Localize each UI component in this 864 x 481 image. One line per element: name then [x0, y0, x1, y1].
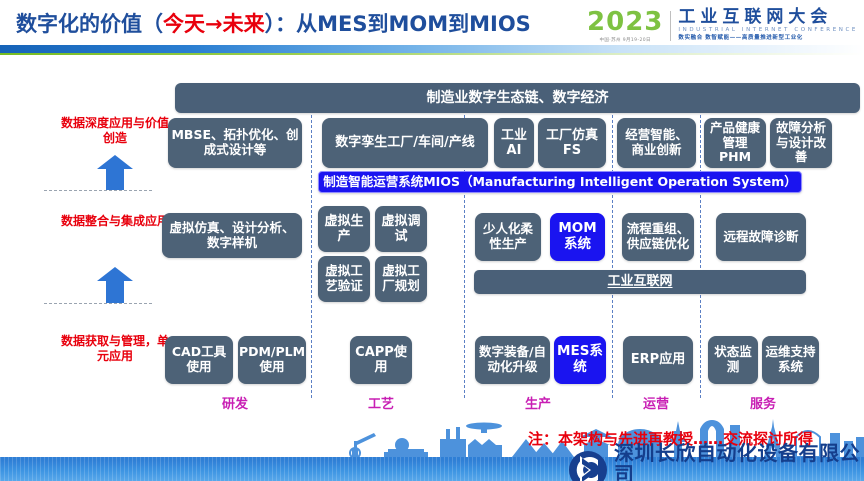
- box-process-reengineering[interactable]: 流程重组、供应链优化: [622, 213, 694, 261]
- box-virtual-simulation-design[interactable]: 虚拟仿真、设计分析、数字样机: [162, 213, 302, 258]
- category-label-rd: 研发: [190, 393, 280, 412]
- category-label-production: 生产: [493, 393, 583, 412]
- axis-label-tier-2: 数据整合与集成应用: [56, 214, 174, 229]
- logo-year-subtitle: 中国·苏州 9月19-20日: [587, 37, 663, 43]
- tier-separator-1: [44, 190, 152, 191]
- title-part-2: ）：从MES到MOM到MIOS: [265, 12, 531, 36]
- progress-arrow-lower: [106, 280, 124, 303]
- box-pdm-plm-usage[interactable]: PDM/PLM使用: [238, 336, 306, 384]
- title-highlight: 今天→未来: [163, 12, 265, 36]
- box-mom-system[interactable]: MOM系统: [550, 213, 605, 261]
- header-green-accent-bar: [0, 53, 864, 55]
- header-gradient-bar: [0, 45, 864, 53]
- title-part-1: 数字化的价值（: [16, 12, 163, 36]
- page-title: 数字化的价值（今天→未来）：从MES到MOM到MIOS: [16, 8, 531, 38]
- box-erp-application[interactable]: ERP应用: [623, 336, 693, 384]
- architecture-diagram: 数据深度应用与价值创造 数据整合与集成应用 数据获取与管理，单元应用 制造业数字…: [0, 58, 864, 418]
- logo-divider: [670, 11, 671, 41]
- box-virtual-production[interactable]: 虚拟生产: [318, 206, 370, 252]
- company-name-cn: 深圳长欣自动化设备有限公司: [614, 443, 864, 481]
- tier-separator-2: [44, 303, 152, 304]
- category-label-process: 工艺: [336, 393, 426, 412]
- box-digital-equipment-automation[interactable]: 数字装备/自动化升级: [475, 336, 550, 384]
- box-mbse-topology[interactable]: MBSE、拓扑优化、创成式设计等: [168, 118, 302, 168]
- conference-logo: 2023 中国·苏州 9月19-20日 工业互联网大会 INDUSTRIAL I…: [587, 6, 858, 46]
- box-remote-fault-diagnosis[interactable]: 远程故障诊断: [716, 213, 806, 261]
- box-virtual-process-validation[interactable]: 虚拟工艺验证: [318, 256, 370, 302]
- box-flexible-production[interactable]: 少人化柔性生产: [475, 213, 541, 261]
- column-divider-4: [700, 110, 701, 398]
- category-label-service: 服务: [718, 393, 808, 412]
- banner-industrial-internet-label: 工业互联网: [607, 274, 672, 289]
- box-capp-usage[interactable]: CAPP使用: [350, 336, 412, 384]
- logo-conference-name-cn: 工业互联网大会: [678, 9, 858, 27]
- box-business-intelligence[interactable]: 经营智能、商业创新: [617, 118, 696, 168]
- box-cad-tool-usage[interactable]: CAD工具使用: [165, 336, 233, 384]
- company-logo-mark: [568, 450, 608, 481]
- box-status-monitoring[interactable]: 状态监测: [708, 336, 758, 384]
- column-divider-3: [612, 110, 613, 398]
- company-logo: 深圳长欣自动化设备有限公司 SHENZHEN CHANGXIN AUTOMATI…: [568, 443, 864, 481]
- banner-industrial-internet: 工业互联网: [474, 270, 806, 294]
- box-factory-simulation-fs[interactable]: 工厂仿真FS: [538, 118, 606, 168]
- box-fault-analysis-design[interactable]: 故障分析与设计改善: [770, 118, 832, 168]
- logo-year: 2023: [587, 9, 663, 35]
- box-digital-twin-factory[interactable]: 数字孪生工厂/车间/产线: [322, 118, 488, 168]
- progress-arrow-upper: [106, 168, 124, 190]
- slide-canvas: 数字化的价值（今天→未来）：从MES到MOM到MIOS 2023 中国·苏州 9…: [0, 0, 864, 481]
- axis-label-tier-3: 数据深度应用与价值创造: [56, 116, 174, 147]
- box-virtual-commissioning[interactable]: 虚拟调试: [375, 206, 427, 252]
- logo-conference-name-en: INDUSTRIAL INTERNET CONFERENCE: [678, 27, 858, 35]
- box-virtual-factory-planning[interactable]: 虚拟工厂规划: [375, 256, 427, 302]
- logo-conference-tagline: 数实融合 数智赋能——高质量推进新型工业化: [678, 35, 858, 43]
- box-mes-system[interactable]: MES系统: [554, 336, 606, 384]
- box-industrial-ai[interactable]: 工业AI: [494, 118, 534, 168]
- axis-label-tier-1: 数据获取与管理，单元应用: [56, 334, 174, 365]
- category-label-operations: 运营: [611, 393, 701, 412]
- box-ops-support-system[interactable]: 运维支持系统: [762, 336, 819, 384]
- column-divider-1: [311, 110, 312, 398]
- banner-mios-system: 制造智能运营系统MIOS（Manufacturing Intelligent O…: [318, 171, 802, 193]
- box-product-health-phm[interactable]: 产品健康管理PHM: [704, 118, 766, 168]
- slide-header: 数字化的价值（今天→未来）：从MES到MOM到MIOS 2023 中国·苏州 9…: [0, 0, 864, 48]
- banner-digital-ecosystem: 制造业数字生态链、数字经济: [175, 83, 860, 113]
